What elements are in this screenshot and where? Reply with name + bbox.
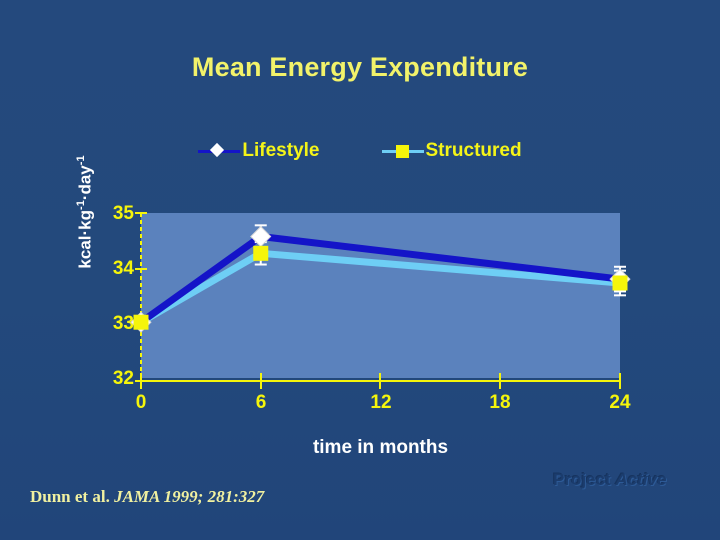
y-tick-34: 34 xyxy=(100,258,134,280)
citation-author: Dunn et al. xyxy=(30,487,110,506)
citation-source: JAMA 1999; 281:327 xyxy=(114,487,264,506)
citation: Dunn et al. JAMA 1999; 281:327 xyxy=(30,487,264,507)
x-axis-title: time in months xyxy=(141,437,620,459)
x-tick-18: 18 xyxy=(480,392,520,414)
project-active-logo: Project Active xyxy=(553,470,666,490)
x-tick-0: 0 xyxy=(121,392,161,414)
legend-swatch-structured xyxy=(382,141,424,161)
x-tick-12: 12 xyxy=(361,392,401,414)
y-tick-33: 33 xyxy=(100,313,134,335)
legend-label-lifestyle: Lifestyle xyxy=(242,140,319,162)
legend-item-structured[interactable]: Structured xyxy=(382,140,522,162)
x-tick-24: 24 xyxy=(600,392,640,414)
legend-item-lifestyle[interactable]: Lifestyle xyxy=(198,140,319,162)
square-marker-icon xyxy=(396,145,409,158)
plot-area xyxy=(141,213,620,378)
logo-word-project: Project xyxy=(553,470,611,489)
y-tick-35: 35 xyxy=(100,203,134,225)
legend-label-structured: Structured xyxy=(426,140,522,162)
slide-canvas: Mean Energy Expenditure Lifestyle Struct… xyxy=(0,0,720,540)
x-tick-6: 6 xyxy=(241,392,281,414)
page-title: Mean Energy Expenditure xyxy=(0,52,720,83)
y-axis-title: kcal·kg-1·day-1 xyxy=(75,117,99,307)
diamond-marker-icon xyxy=(210,143,224,157)
y-tick-32: 32 xyxy=(100,368,134,390)
logo-word-active: Active xyxy=(615,470,666,489)
chart-legend: Lifestyle Structured xyxy=(0,140,720,162)
legend-swatch-lifestyle xyxy=(198,141,240,161)
